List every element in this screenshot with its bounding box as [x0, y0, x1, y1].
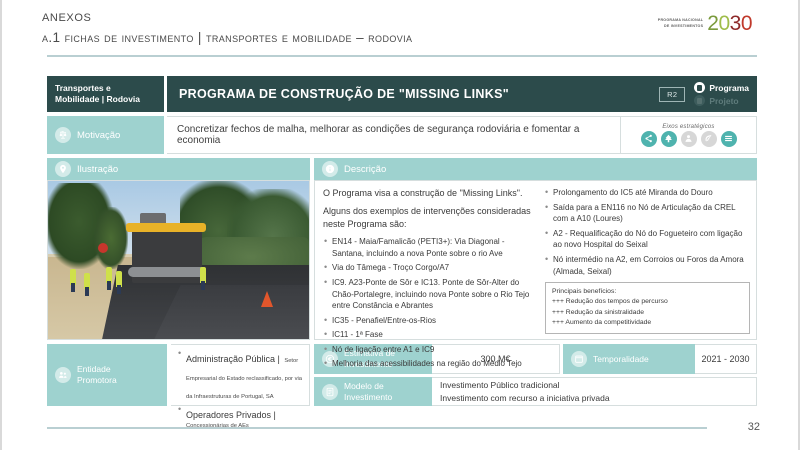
beneficios-box: Principais benefícios: +++ Redução dos t… [545, 282, 750, 334]
logo-line-1: PROGRAMA NACIONAL [658, 18, 703, 23]
list-item: Via do Tâmega - Troço Corgo/A7 [323, 262, 538, 274]
card-title-controls: R2 Programa Projeto [659, 82, 749, 106]
photo-worker [84, 273, 90, 289]
tree-icon[interactable] [661, 131, 677, 147]
descricao-lead-1: O Programa visa a construção de "Missing… [323, 187, 538, 200]
motivacao-label-text: Motivação [77, 130, 120, 141]
card-category: Transportes e Mobilidade | Rodovia [47, 76, 167, 112]
photo-worker [200, 267, 206, 283]
page-number: 32 [748, 421, 760, 433]
header-divider [47, 55, 757, 57]
eixos-icon-row [641, 131, 737, 147]
modelo-row: Modelo deInvestimento Investimento Públi… [314, 377, 757, 406]
investment-sheet-card: Transportes e Mobilidade | Rodovia PROGR… [47, 76, 757, 406]
photo-traffic-cone [261, 291, 273, 307]
radio-unselected-icon [694, 95, 705, 106]
card-titlebar: Transportes e Mobilidade | Rodovia PROGR… [47, 76, 757, 112]
entidade-promotora-label-text: EntidadePromotora [77, 364, 117, 385]
scales-icon [55, 127, 71, 143]
photo-tree-left-2 [94, 207, 128, 269]
descricao-lead-2: Alguns dos exemplos de intervenções cons… [323, 205, 538, 231]
beneficios-title: Principais benefícios: [552, 287, 743, 298]
toggle-projeto-label: Projeto [709, 96, 738, 106]
list-item: IC11 - 1ª Fase [323, 329, 538, 341]
beneficio-item: +++ Redução dos tempos de percurso [552, 297, 743, 308]
photo-paver-screed [128, 267, 206, 277]
card-title: PROGRAMA DE CONSTRUÇÃO DE "MISSING LINKS… [179, 87, 509, 101]
people-icon [55, 367, 71, 383]
card-title-area: PROGRAMA DE CONSTRUÇÃO DE "MISSING LINKS… [167, 76, 757, 112]
eixos-estrategicos: Eixos estratégicos [621, 116, 757, 154]
revision-badge: R2 [659, 87, 685, 102]
modelo-label-text: Modelo deInvestimento [344, 381, 392, 402]
descricao-label: Descrição [314, 158, 757, 180]
list-item: Melhoria das acessibilidades na região d… [323, 358, 538, 370]
beneficio-item: +++ Redução da sinistralidade [552, 308, 743, 319]
card-category-line-2: Mobilidade | Rodovia [55, 94, 164, 105]
toggle-programa[interactable]: Programa [694, 82, 749, 93]
photo-paver-canopy [126, 223, 206, 232]
list-item: Nó de ligação entre A1 e IC9 [323, 344, 538, 356]
temporalidade-label: Temporalidade [563, 344, 695, 374]
photo-worker [106, 267, 112, 283]
list-item: Administração Pública | Setor Empresaria… [177, 349, 305, 403]
modelo-value: Investimento Público tradicional Investi… [432, 377, 757, 406]
footer-divider [47, 427, 707, 429]
entidade-promotora-label: EntidadePromotora [47, 344, 167, 406]
document-icon [322, 384, 338, 400]
logo-year: 2030 [707, 13, 752, 34]
entidade-item-detail: Setor Empresarial do Estado reclassifica… [186, 358, 302, 400]
list-item: IC35 - Penafiel/Entre-os-Rios [323, 315, 538, 327]
descricao-label-text: Descrição [344, 164, 386, 175]
logo-wordmark: PROGRAMA NACIONAL DE INVESTIMENTOS [658, 18, 703, 28]
motivacao-text: Concretizar fechos de malha, melhorar as… [167, 116, 621, 154]
photo-asphalt-far [151, 285, 310, 340]
photo-worker [70, 269, 76, 285]
list-item: EN14 - Maia/Famalicão (PETI3+): Via Diag… [323, 236, 538, 259]
entidade-promotora-content: Administração Pública | Setor Empresaria… [171, 344, 310, 406]
toggle-programa-label: Programa [709, 83, 749, 93]
mid-headers: Ilustração Descrição [47, 158, 757, 180]
eixos-caption: Eixos estratégicos [662, 124, 714, 130]
temporalidade-label-text: Temporalidade [593, 354, 649, 365]
card-category-line-1: Transportes e [55, 83, 164, 94]
calendar-icon [571, 351, 587, 367]
toggle-projeto[interactable]: Projeto [694, 95, 749, 106]
photo-worker [116, 271, 122, 287]
list-item: IC9. A23-Ponte de Sôr e IC13. Ponte de S… [323, 277, 538, 312]
motivacao-row: Motivação Concretizar fechos de malha, m… [47, 116, 757, 154]
modelo-label: Modelo deInvestimento [314, 377, 432, 406]
beneficio-item: +++ Aumento da competitividade [552, 318, 743, 329]
list-item: Saída para a EN116 no Nó de Articulação … [544, 202, 750, 225]
photo-roadsign [98, 243, 108, 253]
leaf-icon[interactable] [701, 131, 717, 147]
mid-body: O Programa visa a construção de "Missing… [47, 180, 757, 340]
entidade-item-title: Administração Pública | [186, 354, 280, 364]
descricao-list-left: EN14 - Maia/Famalicão (PETI3+): Via Diag… [323, 236, 538, 370]
entidade-list: Administração Pública | Setor Empresaria… [177, 349, 305, 431]
layers-icon[interactable] [721, 131, 737, 147]
type-toggle-group[interactable]: Programa Projeto [694, 82, 749, 106]
person-icon[interactable] [681, 131, 697, 147]
list-item: Prolongamento do IC5 até Miranda do Dour… [544, 187, 750, 199]
pni-2030-logo: PROGRAMA NACIONAL DE INVESTIMENTOS 2030 [654, 10, 756, 37]
location-pin-icon [55, 161, 71, 177]
descricao-column-left: O Programa visa a construção de "Missing… [323, 187, 538, 335]
ilustracao-label: Ilustração [47, 158, 310, 180]
modelo-line: Investimento Público tradicional [440, 380, 756, 390]
descricao-content: O Programa visa a construção de "Missing… [314, 180, 757, 340]
modelo-line: Investimento com recurso a iniciativa pr… [440, 393, 756, 403]
info-icon [322, 161, 338, 177]
illustration-photo [47, 180, 310, 340]
share-icon[interactable] [641, 131, 657, 147]
motivacao-label: Motivação [47, 116, 167, 154]
temporalidade-value: 2021 - 2030 [695, 344, 757, 374]
ilustracao-label-text: Ilustração [77, 164, 118, 175]
entidade-item-title: Operadores Privados | [186, 410, 276, 420]
slide-page: Anexos A.1 Fichas de investimento | Tran… [0, 0, 800, 450]
logo-line-2: DE INVESTIMENTOS [658, 24, 703, 29]
list-item: Nó intermédio na A2, em Corroios ou Foro… [544, 254, 750, 277]
list-item: A2 - Requalificação do Nó do Fogueteiro … [544, 228, 750, 251]
radio-selected-icon [694, 82, 705, 93]
